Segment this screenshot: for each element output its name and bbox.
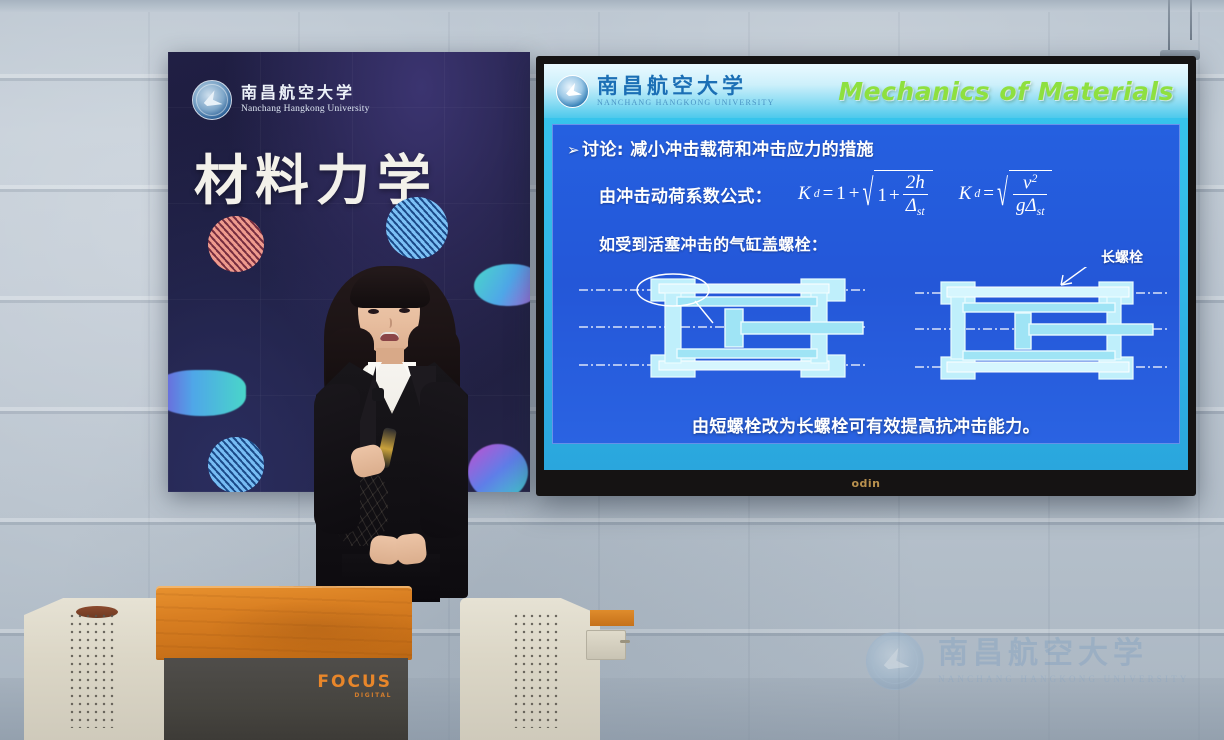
fraction-denominator: gΔst: [1013, 194, 1048, 218]
presenter-eye-right: [399, 308, 410, 313]
formula-kd-free-fall: Kd = 1 + √ 1 + 2h Δst: [798, 170, 933, 218]
formula-kd-velocity: Kd = √ v2 gΔst: [959, 170, 1053, 219]
lecture-hall-scene: 南昌航空大学 Nanchang Hangkong University 材料力学…: [0, 0, 1224, 740]
formula-equals: =: [983, 183, 994, 205]
lectern-side-shelf: [590, 610, 634, 626]
slide-conclusion-text: 由短螺栓改为长螺栓可有效提高抗冲击能力。: [553, 412, 1179, 437]
poster-university-name-en: Nanchang Hangkong University: [241, 104, 370, 114]
ceiling-band: [0, 0, 1224, 12]
formula-lhs-subscript: d: [974, 187, 980, 201]
radicand-lead: 1: [877, 185, 887, 207]
decor-striped-circle-blue-top: [386, 197, 448, 259]
formula-term-plus: +: [849, 183, 860, 205]
decor-gradient-blob-left: [168, 370, 246, 416]
lectern-brand-text: FOCUS: [317, 672, 392, 692]
watermark-name-en: NANCHANG HANGKONG UNIVERSITY: [938, 675, 1190, 684]
lectern: FOCUSDIGITAL: [24, 586, 600, 740]
watermark-name-cn: 南昌航空大学: [938, 639, 1190, 669]
bullet-heading-text: 讨论: 减小冲击载荷和冲击应力的措施: [582, 140, 874, 160]
lectern-brand-label: FOCUSDIGITAL: [317, 672, 392, 699]
university-seal-icon: [556, 75, 589, 108]
fraction-denominator: Δst: [903, 194, 928, 218]
formula-lhs: K: [798, 183, 811, 205]
radicand-fraction: v2 gΔst: [1013, 173, 1048, 219]
ceiling-wire: [1168, 0, 1170, 54]
radical-sign-icon: √: [997, 150, 1008, 243]
fraction-numerator: v2: [1020, 173, 1040, 194]
decor-striped-circle-blue-bottom: [208, 437, 264, 492]
long-bolt-annotation-label: 长螺栓: [1101, 247, 1143, 267]
formula-term-one: 1: [836, 183, 846, 205]
formula-radical: √ 1 + 2h Δst: [863, 170, 933, 218]
slide-header: 南昌航空大学 NANCHANG HANGKONG UNIVERSITY Mech…: [544, 64, 1188, 118]
display-brand-label: odin: [851, 477, 880, 490]
wood-grain-texture: [156, 586, 412, 660]
radical-sign-icon: √: [863, 150, 874, 242]
presenter: [296, 258, 486, 598]
slide-course-title: Mechanics of Materials: [838, 77, 1174, 106]
radicand-fraction: 2h Δst: [903, 173, 928, 218]
university-seal-icon: [192, 80, 232, 120]
university-seal-icon: [866, 632, 924, 690]
poster-university-name-cn: 南昌航空大学: [241, 86, 370, 103]
lectern-front-panel: FOCUSDIGITAL: [164, 658, 408, 740]
presenter-nose: [385, 318, 392, 328]
bolt-diagram-area: 长螺栓: [553, 261, 1179, 389]
presenter-eye-left: [368, 309, 379, 314]
fraction-denominator-symbol: gΔ: [1016, 195, 1037, 216]
poster-university-logo: 南昌航空大学 Nanchang Hangkong University: [192, 80, 370, 120]
slide-canvas: 南昌航空大学 NANCHANG HANGKONG UNIVERSITY Mech…: [544, 64, 1188, 470]
radicand-plus: +: [889, 185, 900, 207]
formula-lhs-subscript: d: [814, 187, 820, 201]
formula-intro-label: 由冲击动荷系数公式：: [599, 182, 772, 207]
lectern-wood-top[interactable]: [156, 586, 412, 660]
fraction-denominator-symbol: Δ: [906, 195, 917, 216]
lectern-speaker-grille-right: [512, 612, 558, 728]
ceiling-wire-secondary: [1190, 0, 1192, 40]
presenter-mouth: [380, 332, 399, 341]
presenter-hand-lower-right: [395, 533, 428, 566]
lectern-key-icon: [620, 640, 630, 643]
presentation-display[interactable]: odin 南昌航空大学 NANCHANG HANGKONG UNIVERSITY…: [536, 56, 1196, 496]
bullet-arrow-icon: ➢: [567, 141, 580, 159]
fraction-numerator-exponent: 2: [1031, 172, 1037, 185]
fraction-denominator-subscript: st: [917, 205, 925, 218]
slide-example-line: 如受到活塞冲击的气缸盖螺栓：: [599, 231, 1179, 255]
lapel-microphone: [372, 388, 384, 401]
formula-equals: =: [823, 183, 834, 205]
decor-striped-circle-red: [208, 216, 264, 272]
lectern-brand-subtext: DIGITAL: [317, 692, 392, 699]
slide-university-name-cn: 南昌航空大学: [597, 76, 775, 97]
formula-lhs: K: [959, 183, 972, 205]
fraction-denominator-subscript: st: [1037, 206, 1045, 219]
slide-header-logo: 南昌航空大学 NANCHANG HANGKONG UNIVERSITY: [556, 75, 775, 108]
slide-university-name-en: NANCHANG HANGKONG UNIVERSITY: [597, 99, 775, 107]
formula-row: 由冲击动荷系数公式： Kd = 1 + √ 1 +: [599, 170, 1179, 219]
formula-radical: √ v2 gΔst: [997, 170, 1052, 219]
lectern-speaker-grille-left: [68, 612, 114, 728]
short-bolt-cylinder-diagram: [573, 267, 873, 387]
long-bolt-cylinder-diagram: [911, 267, 1173, 387]
lectern-drawer[interactable]: [586, 630, 626, 660]
fraction-numerator: 2h: [903, 173, 928, 194]
university-watermark: 南昌航空大学 NANCHANG HANGKONG UNIVERSITY: [866, 622, 1158, 700]
presenter-arm-right: [420, 382, 468, 538]
slide-body: ➢讨论: 减小冲击载荷和冲击应力的措施 由冲击动荷系数公式： Kd = 1 + …: [552, 124, 1180, 444]
